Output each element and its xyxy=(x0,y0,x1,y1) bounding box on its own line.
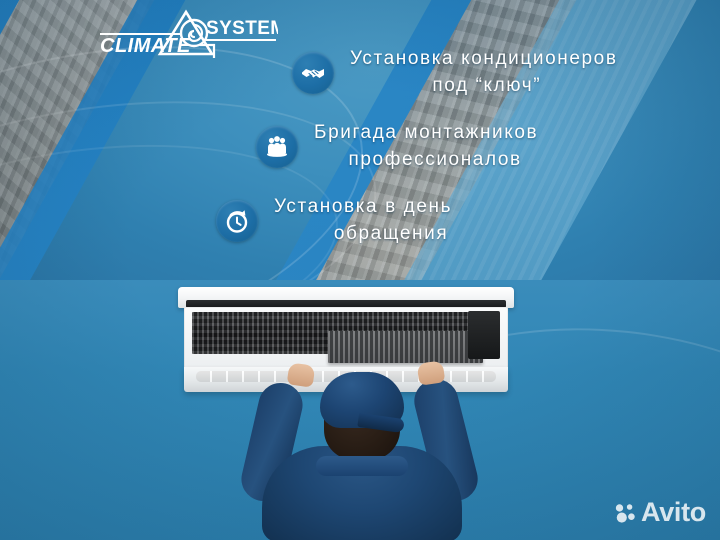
ac-open-panel xyxy=(328,331,483,363)
ac-right-module xyxy=(468,311,500,359)
advertisement-banner: CLIMATE SYSTEMS Установка кондиционеровп… xyxy=(0,0,720,540)
handshake-icon xyxy=(292,52,334,94)
feature-item-same-day-installation: Установка в деньобращения xyxy=(0,194,720,248)
people-group-icon xyxy=(256,126,298,168)
feature-text: Установка в деньобращения xyxy=(274,194,452,248)
logo-word-left: CLIMATE xyxy=(100,35,191,57)
feature-line-1: Бригада монтажников xyxy=(314,122,538,143)
avito-dots-icon xyxy=(614,502,636,524)
technician-right-hand xyxy=(417,360,446,385)
company-logo: CLIMATE SYSTEMS xyxy=(98,6,278,64)
feature-line-1: Установка кондиционеров xyxy=(350,48,618,69)
technician-installing-unit xyxy=(236,360,486,540)
feature-text: Установка кондиционеровпод “ключ” xyxy=(350,46,618,100)
technician-collar xyxy=(316,456,408,476)
avito-label: Avito xyxy=(641,499,706,526)
feature-list: Установка кондиционеровпод “ключ” Бригад… xyxy=(0,46,720,268)
feature-item-professional-crew: Бригада монтажниковпрофессионалов xyxy=(0,120,720,174)
avito-watermark: Avito xyxy=(614,499,706,526)
logo-word-right: SYSTEMS xyxy=(206,18,278,39)
technician-left-hand xyxy=(287,362,316,387)
feature-text: Бригада монтажниковпрофессионалов xyxy=(314,120,538,174)
feature-line-2: профессионалов xyxy=(332,147,538,174)
clock-arrow-icon xyxy=(216,200,258,242)
feature-line-2: под “ключ” xyxy=(356,73,618,100)
feature-line-2: обращения xyxy=(330,221,452,248)
feature-line-1: Установка в день xyxy=(274,196,452,217)
